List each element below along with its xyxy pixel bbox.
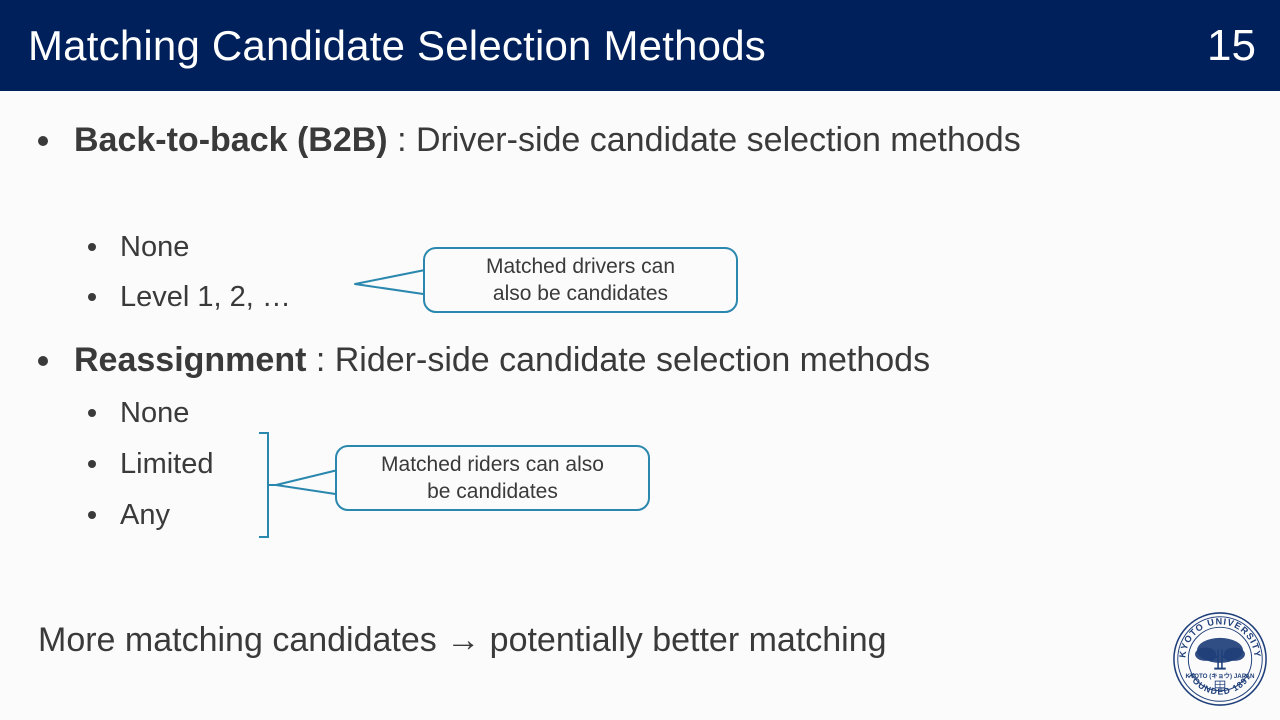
bullet-back-to-back-label: Back-to-back (B2B) [74, 121, 388, 159]
sub-bullet-reassign-limited: Limited [88, 442, 214, 486]
bullet-reassignment: Reassignment : Rider-side candidate sele… [38, 335, 1218, 386]
page-title: Matching Candidate Selection Methods [28, 22, 766, 70]
bullet-marker-icon [38, 356, 48, 366]
callout-drivers-line1: Matched drivers can [486, 255, 675, 278]
bullet-marker-icon [88, 243, 96, 251]
sub-bullet-b2b-none-label: None [120, 225, 189, 269]
sub-bullet-b2b-none: None [88, 225, 189, 269]
bullet-back-to-back-text: : Driver-side candidate selection method… [388, 121, 1021, 159]
sub-bullet-b2b-levels-label: Level 1, 2, … [120, 275, 291, 319]
bullet-marker-icon [88, 460, 96, 468]
bullet-marker-icon [38, 136, 48, 146]
bullet-reassignment-text: : Rider-side candidate selection methods [306, 341, 930, 379]
bullet-back-to-back: Back-to-back (B2B) : Driver-side candida… [38, 115, 1148, 166]
callout-matched-riders: Matched riders can also be candidates [335, 445, 650, 511]
bullet-marker-icon [88, 511, 96, 519]
sub-bullet-reassign-none-label: None [120, 391, 189, 435]
bullet-reassignment-label: Reassignment [74, 341, 306, 379]
slide-header: Matching Candidate Selection Methods 15 [0, 0, 1280, 91]
slide-content: Back-to-back (B2B) : Driver-side candida… [0, 91, 1280, 720]
kyoto-university-seal-icon: KYOTO (キョウ) JAPAN KYOTO UNIVERSITY FOUND… [1172, 611, 1268, 707]
bullet-marker-icon [88, 293, 96, 301]
summary-statement: More matching candidates → potentially b… [38, 618, 887, 662]
sub-bullet-reassign-limited-label: Limited [120, 442, 214, 486]
bullet-marker-icon [88, 409, 96, 417]
callout-drivers-line2: also be candidates [493, 282, 668, 305]
callout-matched-drivers: Matched drivers can also be candidates [423, 247, 738, 313]
sub-bullet-reassign-any: Any [88, 493, 170, 537]
group-bracket-icon [255, 431, 279, 539]
page-number: 15 [1207, 21, 1256, 71]
sub-bullet-reassign-none: None [88, 391, 189, 435]
sub-bullet-reassign-any-label: Any [120, 493, 170, 537]
callout-riders-line1: Matched riders can also [381, 453, 604, 476]
sub-bullet-b2b-levels: Level 1, 2, … [88, 275, 291, 319]
callout-riders-line2: be candidates [427, 480, 558, 503]
